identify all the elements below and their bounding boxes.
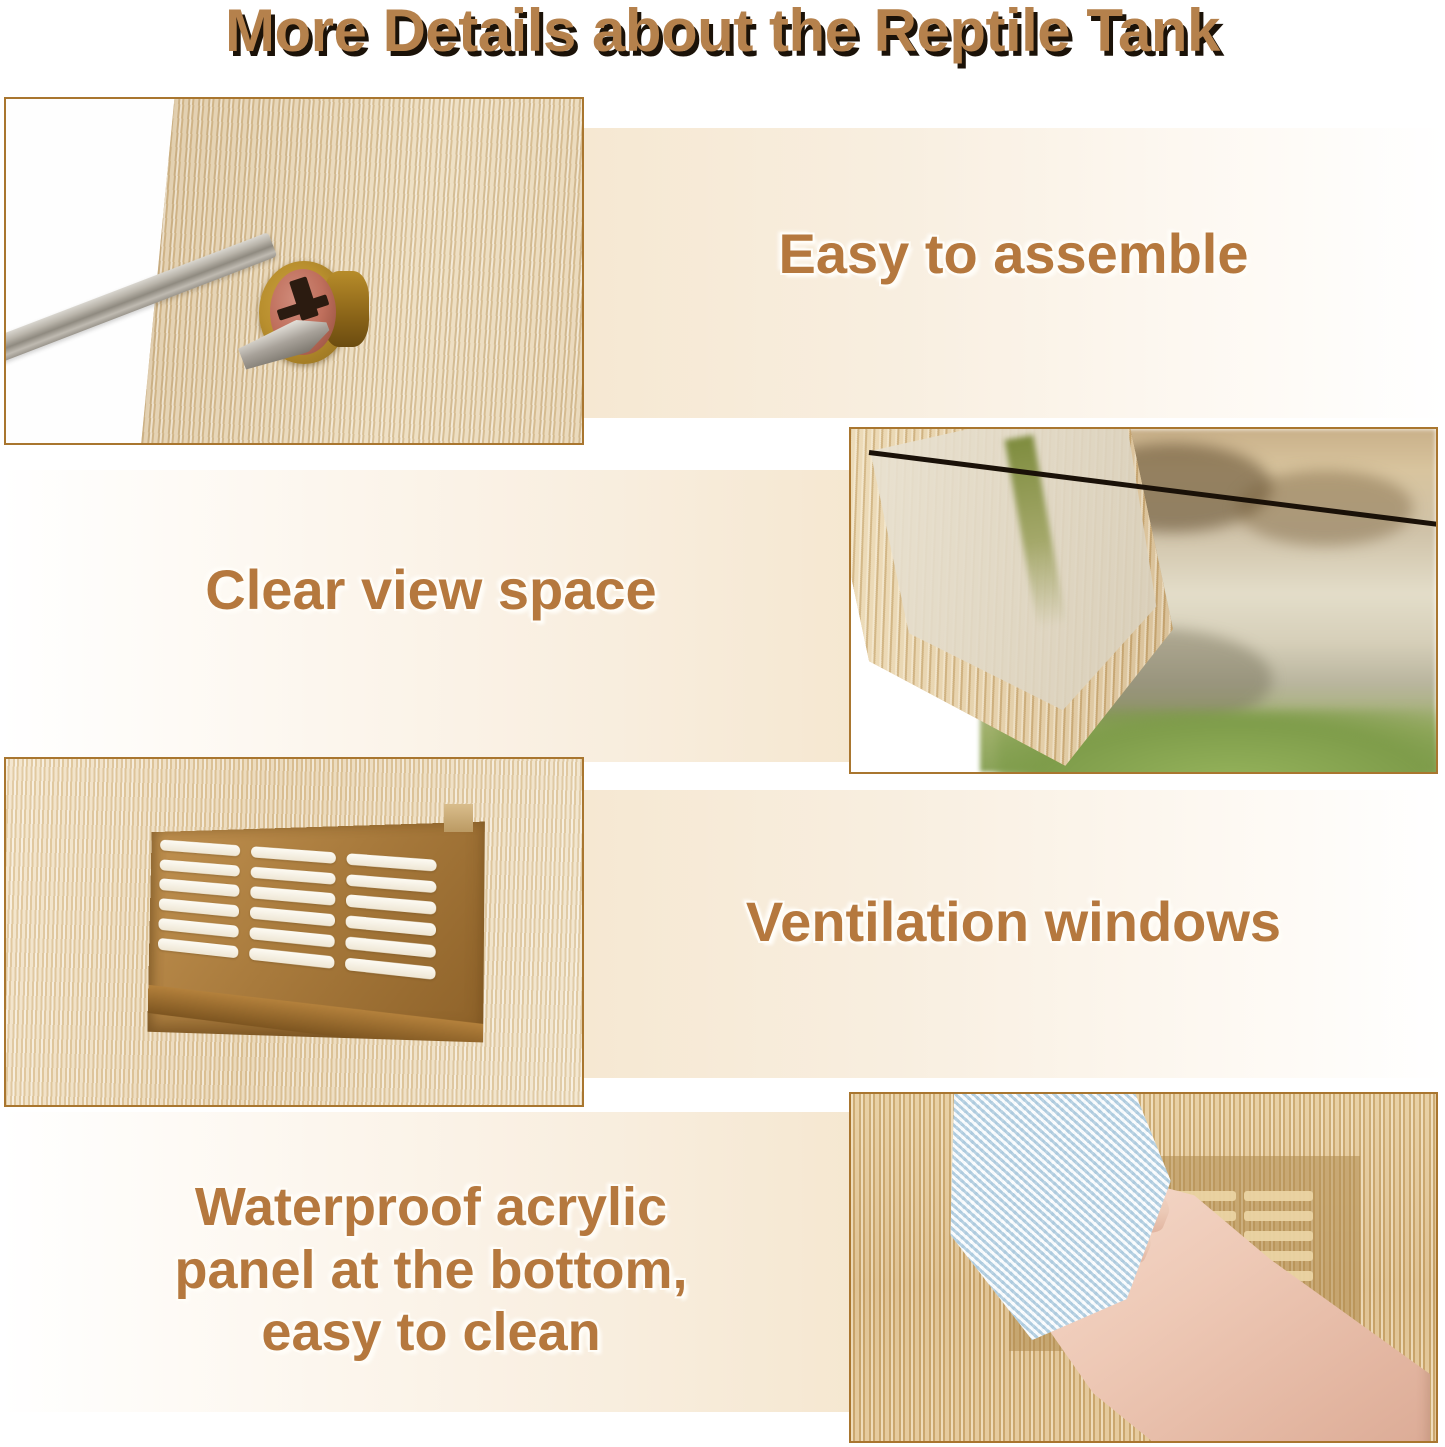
photo-background-acrylic [851, 429, 1436, 772]
wood-panel-surface-bottom [851, 1094, 1436, 1441]
grille-column-middle [249, 837, 336, 978]
wood-panel-surface [6, 759, 582, 1105]
vent-slot [346, 937, 436, 959]
feature-caption-easy-to-assemble: Easy to assemble [582, 222, 1445, 287]
feature-photo-ventilation-windows [4, 757, 584, 1107]
vent-slot [160, 859, 240, 877]
vent-slot [347, 874, 437, 894]
feature-photo-waterproof-acrylic-panel [849, 1092, 1438, 1443]
vent-slot [1244, 1191, 1313, 1201]
vent-slot [250, 887, 335, 907]
vent-slot [160, 840, 240, 858]
vent-slot [159, 879, 239, 898]
photo-background-screw [6, 99, 582, 443]
vent-slot [250, 907, 335, 927]
feature-caption-ventilation-windows: Ventilation windows [582, 890, 1445, 955]
ventilation-recess [147, 822, 485, 1043]
grille-column-left [158, 831, 241, 968]
vent-slot [347, 853, 437, 872]
vent-slot [159, 919, 239, 939]
grille-column-right [346, 844, 438, 990]
vent-slot [158, 939, 238, 959]
feature-photo-clear-view-space [849, 427, 1438, 774]
feature-caption-waterproof-acrylic-panel: Waterproof acrylic panel at the bottom, … [0, 1176, 862, 1364]
vent-slot [346, 958, 437, 980]
vent-slot [251, 867, 336, 886]
vent-slot [159, 899, 239, 918]
page-title: More Details about the Reptile Tank [0, 0, 1445, 65]
feature-photo-easy-to-assemble [4, 97, 584, 445]
vent-slot [347, 895, 437, 915]
ventilation-grille [158, 831, 437, 990]
vent-slot [1244, 1211, 1313, 1221]
recess-sill [148, 985, 484, 1043]
vent-slot [249, 928, 334, 949]
feature-caption-clear-view-space: Clear view space [0, 558, 862, 623]
vent-slot [249, 948, 334, 969]
vent-slot [251, 846, 336, 864]
vent-slot [1244, 1231, 1313, 1241]
recess-corner-tab [444, 804, 473, 832]
vent-slot [346, 916, 436, 937]
